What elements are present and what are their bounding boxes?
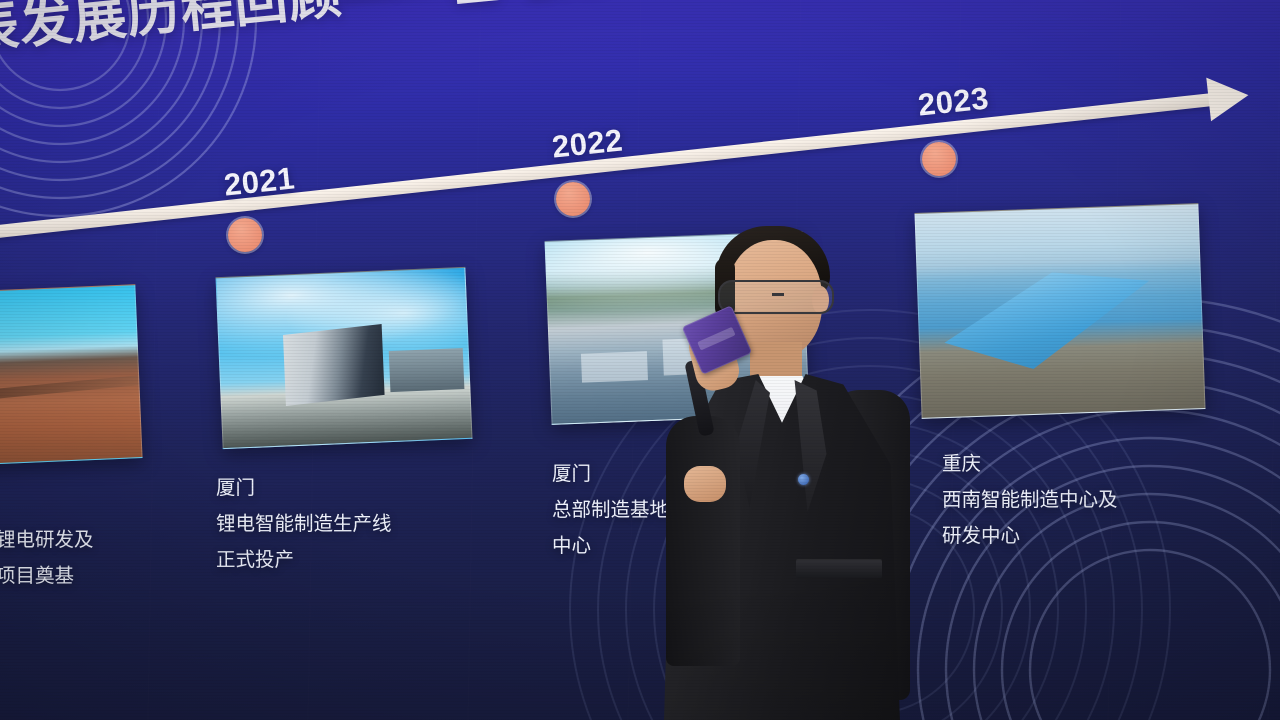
presentation-photo: 海辰发展历程回顾——基地建设 2021 2022 2023 锂电研发及 项目奠基… (0, 0, 1280, 720)
screen-scanlines (0, 0, 1280, 720)
